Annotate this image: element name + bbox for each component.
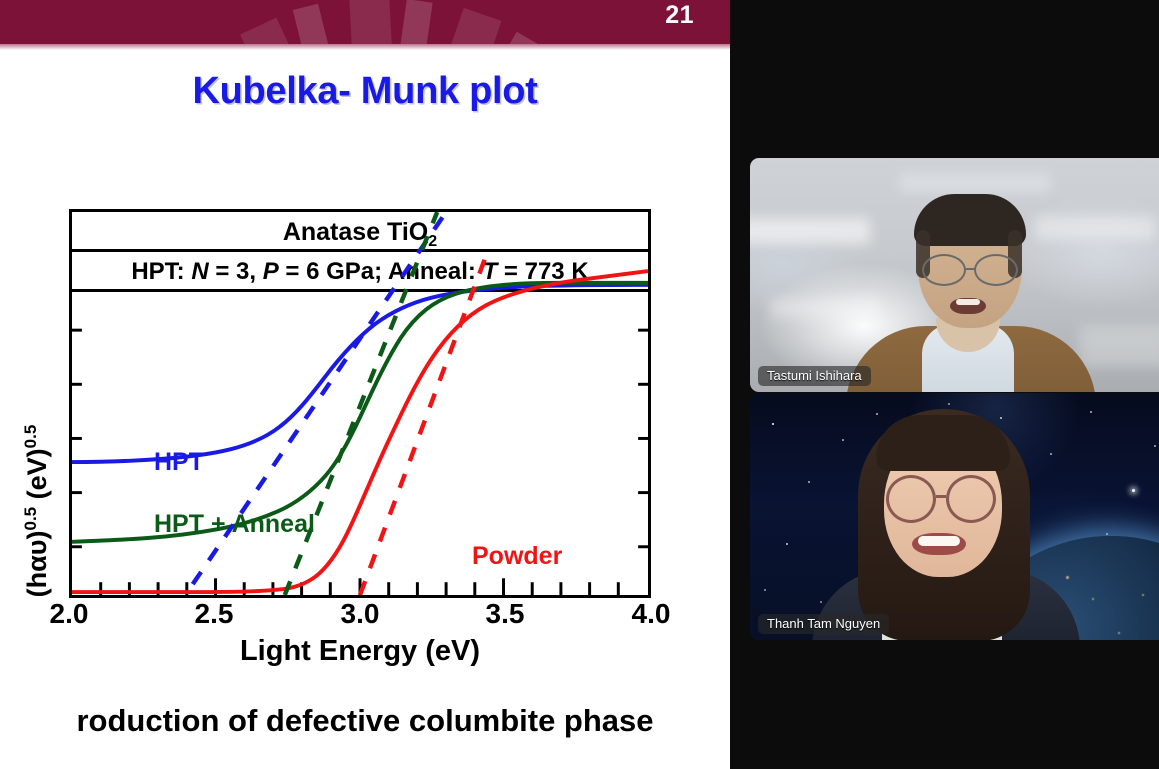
slide-caption: roduction of defective columbite phase xyxy=(0,703,730,739)
kubelka-munk-figure: (hαυ)0.5 (eV)0.5 Anatase TiO2 HPT: N = 3… xyxy=(0,195,730,695)
page-title: Kubelka- Munk plot xyxy=(0,70,730,113)
meeting-screen: 21 Kubelka- Munk plot (hαυ)0.5 (eV)0.5 A… xyxy=(0,0,1159,769)
participant-video-1 xyxy=(750,158,1159,392)
video-tile-participant-2[interactable]: Thanh Tam Nguyen xyxy=(750,393,1159,640)
video-tile-strip: Tastumi Ishihara xyxy=(730,0,1159,769)
series-label-hpt: HPT xyxy=(154,448,204,477)
shared-slide: 21 Kubelka- Munk plot (hαυ)0.5 (eV)0.5 A… xyxy=(0,0,730,769)
tangent-powder xyxy=(360,251,488,595)
participant-name-badge: Thanh Tam Nguyen xyxy=(758,614,889,634)
series-label-powder: Powder xyxy=(472,542,562,571)
banner-fade xyxy=(0,44,730,50)
x-axis-label: Light Energy (eV) xyxy=(69,635,651,668)
series-hpt-curve xyxy=(72,285,648,462)
series-label-hpt-anneal: HPT + Anneal xyxy=(154,510,315,539)
x-tick-label: 3.0 xyxy=(341,598,380,630)
video-tile-participant-1[interactable]: Tastumi Ishihara xyxy=(750,158,1159,392)
x-axis-tick-labels: 2.0 2.5 3.0 3.5 4.0 xyxy=(69,598,651,632)
x-tick-label: 2.5 xyxy=(195,598,234,630)
eyeglasses-icon xyxy=(922,254,966,286)
plot-box: Anatase TiO2 HPT: N = 3, P = 6 GPa; Anne… xyxy=(69,209,651,598)
y-axis-label-text: (hαυ) xyxy=(22,531,52,598)
participant-video-2 xyxy=(750,393,1159,640)
participant-name-badge: Tastumi Ishihara xyxy=(758,366,871,386)
slide-page-number: 21 xyxy=(665,1,694,30)
x-tick-label: 2.0 xyxy=(50,598,89,630)
x-tick-label: 3.5 xyxy=(486,598,525,630)
y-axis-label: (hαυ)0.5 (eV)0.5 xyxy=(21,366,53,656)
slide-banner: 21 xyxy=(0,0,730,48)
x-tick-label: 4.0 xyxy=(632,598,671,630)
eyeglasses-icon xyxy=(886,475,936,523)
